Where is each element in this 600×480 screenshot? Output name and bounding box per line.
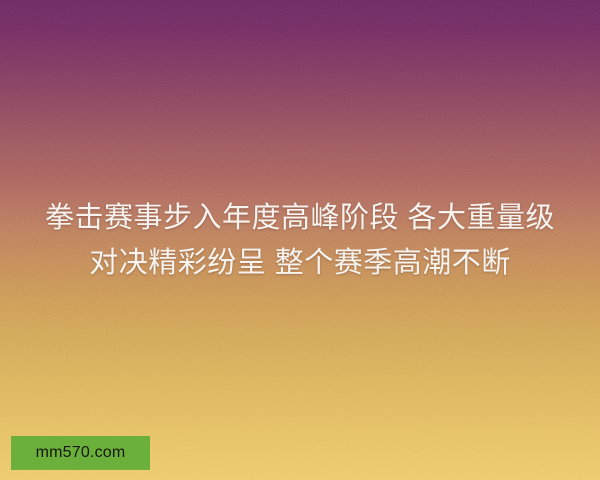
title-line-2: 对决精彩纷呈 整个赛季高潮不断: [24, 241, 576, 286]
watermark-label: mm570.com: [36, 445, 126, 461]
poster-title: 拳击赛事步入年度高峰阶段 各大重量级 对决精彩纷呈 整个赛季高潮不断: [0, 196, 600, 286]
watermark-badge: mm570.com: [11, 436, 150, 470]
title-line-1: 拳击赛事步入年度高峰阶段 各大重量级: [24, 196, 576, 241]
poster-image: 拳击赛事步入年度高峰阶段 各大重量级 对决精彩纷呈 整个赛季高潮不断 mm570…: [0, 0, 600, 480]
